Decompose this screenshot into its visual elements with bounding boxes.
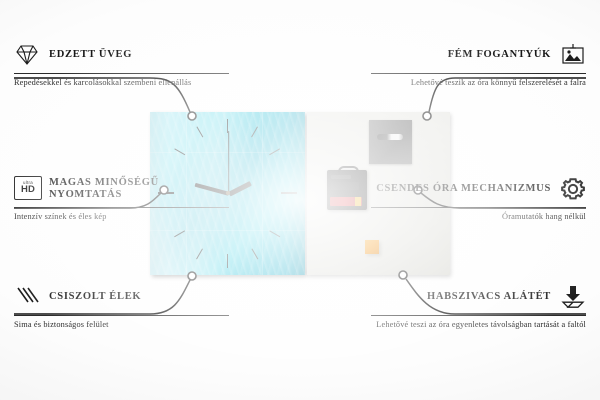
dial-tick	[269, 148, 280, 155]
feature-description: Lehetővé teszi az óra egyenletes távolsá…	[371, 320, 586, 331]
mechanism-loop	[338, 166, 359, 175]
feature-title: HABSZIVACS ALÁTÉT	[427, 291, 551, 304]
dial-tick	[196, 248, 203, 259]
dial-tick	[174, 230, 185, 237]
mechanism-detail	[331, 175, 351, 179]
feature-magas-minosegu-nyomtatas: ultra HD MAGAS MINŐSÉGŰ NYOMTATÁS Intenz…	[14, 176, 229, 223]
divider	[371, 207, 586, 208]
divider	[14, 207, 229, 208]
polished-edges-icon	[14, 284, 40, 310]
dial-tick	[251, 126, 258, 137]
dial-tick	[174, 148, 185, 155]
feature-title: CSISZOLT ÉLEK	[49, 291, 141, 304]
feature-description: Intenzív színek és éles kép	[14, 212, 229, 223]
dial-tick	[196, 126, 203, 137]
gear-icon	[560, 176, 586, 202]
dial-tick	[227, 254, 228, 268]
wall-mount-icon	[560, 42, 586, 68]
feature-title: MAGAS MINŐSÉGŰ NYOMTATÁS	[49, 177, 229, 202]
foam-pad	[365, 240, 379, 254]
feature-description: Lehetővé teszik az óra könnyű felszerelé…	[371, 78, 586, 89]
dial-tick	[227, 119, 228, 133]
divider	[14, 73, 229, 74]
feature-title: FÉM FOGANTYÚK	[448, 49, 551, 62]
hanger-slot	[377, 134, 403, 140]
pattern-line	[262, 112, 263, 275]
dial-tick	[281, 192, 297, 194]
feature-csiszolt-elek: CSISZOLT ÉLEK Sima és biztonságos felüle…	[14, 284, 229, 331]
clock-mechanism	[327, 170, 367, 210]
mechanism-detail	[331, 182, 359, 190]
feature-title: CSENDES ÓRA MECHANIZMUS	[376, 183, 551, 196]
feature-edzett-uveg: EDZETT ÜVEG Repedésekkel és karcolásokka…	[14, 42, 229, 89]
divider	[371, 73, 586, 74]
hour-hand	[228, 181, 251, 196]
metal-hanger	[369, 120, 412, 164]
dial-tick	[251, 248, 258, 259]
dial-tick	[269, 230, 280, 237]
pattern-line	[150, 230, 305, 231]
infographic-canvas: EDZETT ÜVEG Repedésekkel és karcolásokka…	[0, 0, 600, 400]
foam-pad-icon	[560, 284, 586, 310]
ultra-hd-icon: ultra HD	[14, 176, 40, 202]
ultra-hd-icon-large-text: HD	[21, 185, 35, 195]
pattern-line	[150, 152, 305, 153]
divider	[371, 315, 586, 316]
divider	[14, 315, 229, 316]
diamond-icon	[14, 42, 40, 68]
feature-description: Óramutatók hang nélkül	[371, 212, 586, 223]
feature-title: EDZETT ÜVEG	[49, 49, 132, 62]
feature-csendes-ora-mechanizmus: CSENDES ÓRA MECHANIZMUS Óramutatók hang …	[371, 176, 586, 223]
feature-habszivacs-alatet: HABSZIVACS ALÁTÉT Lehetővé teszi az óra …	[371, 284, 586, 331]
feature-description: Sima és biztonságos felület	[14, 320, 229, 331]
battery-terminal	[355, 197, 361, 206]
feature-description: Repedésekkel és karcolásokkal szembeni e…	[14, 78, 229, 89]
feature-fem-fogantyuk: FÉM FOGANTYÚK Lehetővé teszik az óra kön…	[371, 42, 586, 89]
